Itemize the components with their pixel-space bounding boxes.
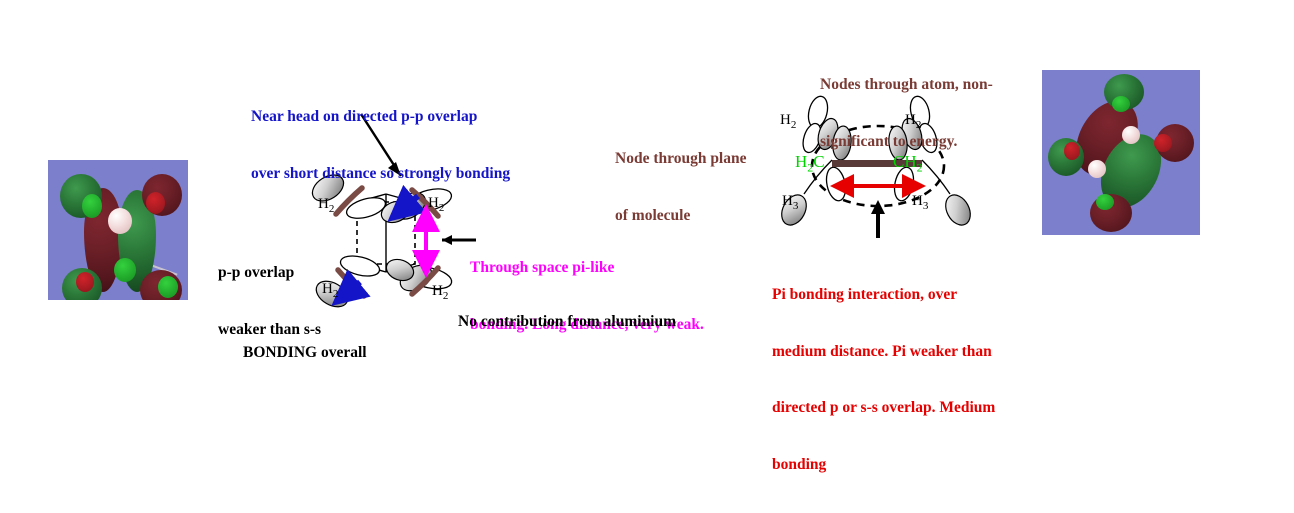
atom-label-h2-bottom-left: H2: [322, 281, 338, 300]
atom-sphere: [1122, 126, 1140, 144]
annotation-line: directed p or s-s overlap. Medium: [772, 399, 995, 418]
annotation-line: medium distance. Pi weaker than: [772, 343, 995, 362]
annotation-no-contribution: No contribution from aluminium: [458, 313, 676, 332]
mo-lobe-small: [114, 258, 136, 282]
annotation-line: of molecule: [615, 207, 747, 226]
annotation-line: Pi bonding interaction, over: [772, 286, 995, 305]
mo-lobe-small: [146, 192, 165, 214]
annotation-line: Node through plane: [615, 150, 747, 169]
mo-lobe-small: [82, 194, 102, 218]
atom-label-h2-bottom-right: H2: [432, 283, 448, 302]
figure-canvas: H2 H2 H2 H2: [0, 0, 1294, 404]
annotation-line: p-p overlap: [218, 264, 321, 283]
atom-label-h3-bottom-left: H3: [782, 193, 798, 212]
mo-render-left: [48, 160, 188, 300]
annotation-line: over short distance so strongly bonding: [251, 165, 510, 184]
mo-lobe-small: [76, 272, 94, 292]
annotation-bonding-overall: BONDING overall: [243, 344, 367, 363]
annotation-line: Near head on directed p-p overlap: [251, 108, 510, 127]
mo-lobe-small: [1096, 194, 1114, 210]
annotation-pp-overlap-blue: Near head on directed p-p overlap over s…: [251, 70, 510, 221]
annotation-line: weaker than s-s: [218, 321, 321, 340]
mo-lobe-small: [1064, 142, 1080, 160]
annotation-nodes-through-atom: Nodes through atom, non- significant to …: [820, 38, 993, 189]
mo-lobe-small: [1112, 96, 1130, 112]
mo-lobe-small: [158, 276, 178, 298]
atom-label-h3-bottom-right: H3: [912, 193, 928, 212]
atom-label-h2-top-left: H2: [780, 112, 796, 131]
annotation-node-through-plane: Node through plane of molecule: [615, 112, 747, 263]
mo-lobe-small: [1154, 134, 1172, 152]
mo-render-right: [1042, 70, 1200, 235]
annotation-line: bonding: [772, 456, 995, 475]
annotation-line: Nodes through atom, non-: [820, 76, 993, 95]
atom-sphere: [108, 208, 132, 234]
atom-sphere: [1088, 160, 1106, 178]
annotation-line: significant to energy.: [820, 133, 993, 152]
annotation-pi-bonding: Pi bonding interaction, over medium dist…: [772, 248, 995, 513]
